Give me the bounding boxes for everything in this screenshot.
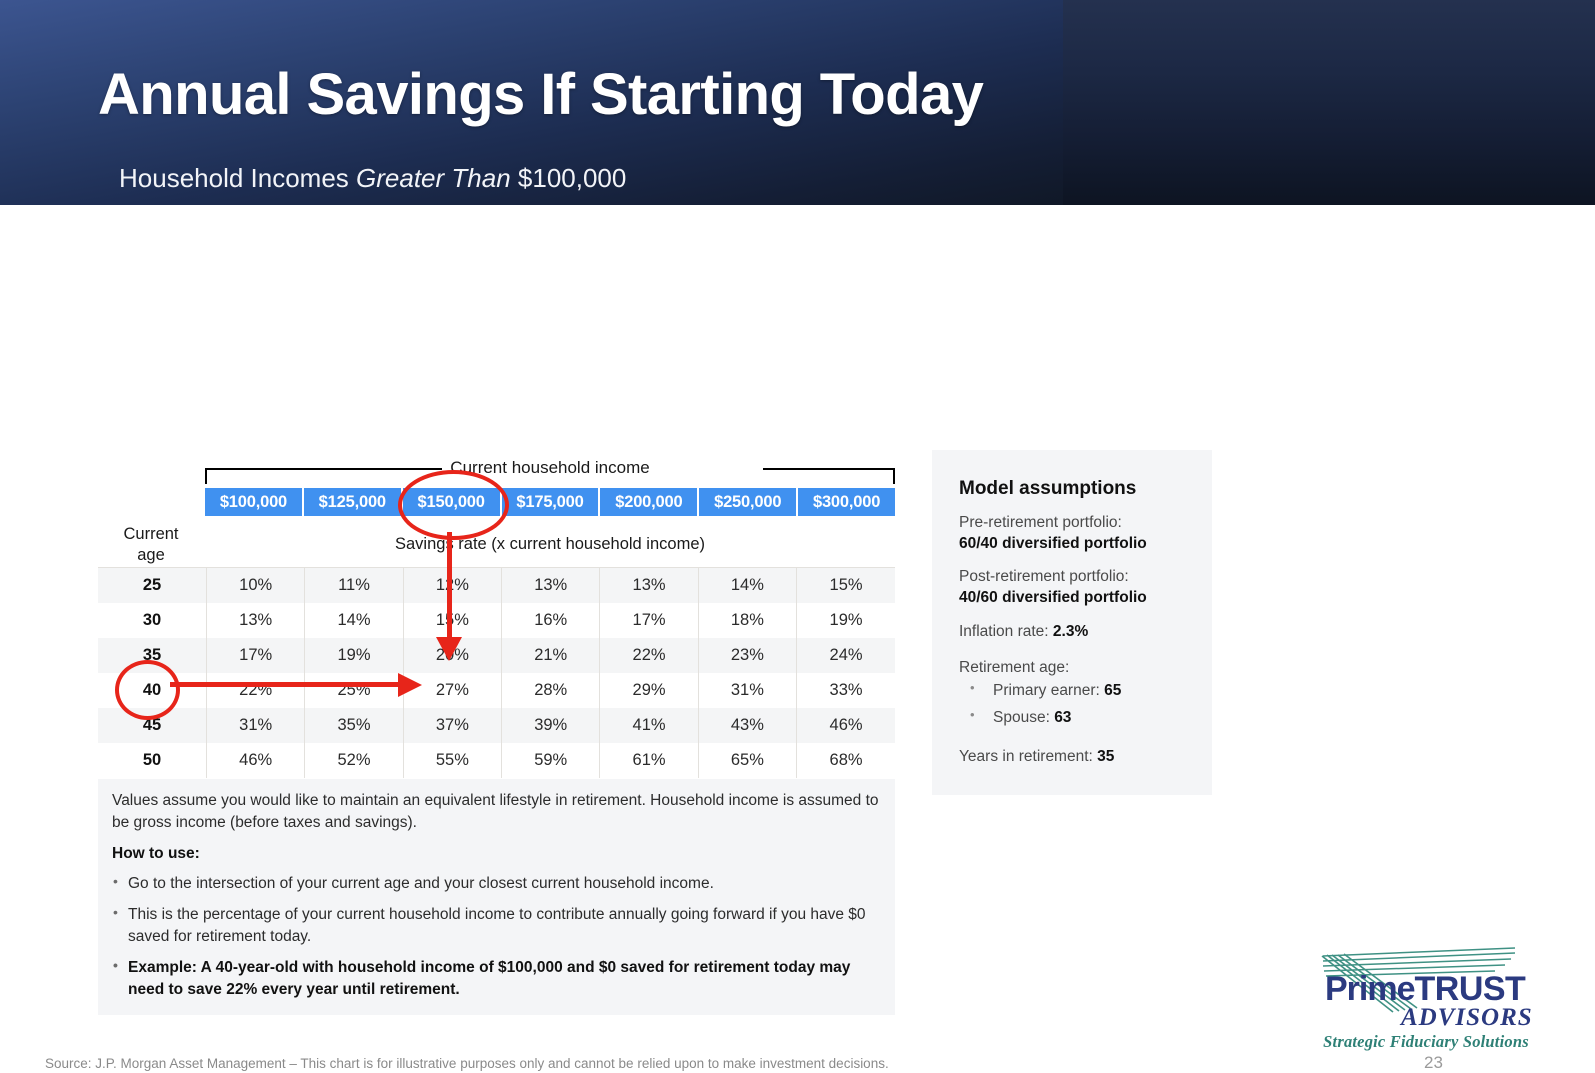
logo-word-prime: Prime (1325, 970, 1415, 1008)
subtitle-part-pre: Household Incomes (119, 163, 356, 193)
rate-cell: 65% (698, 743, 796, 778)
how-to-use-heading: How to use: (112, 845, 200, 863)
inflation-rate-value: 2.3% (1053, 623, 1088, 640)
rate-cell: 31% (207, 708, 305, 743)
post-retirement-portfolio-label: Post-retirement portfolio: (959, 567, 1195, 588)
header-right-gradient-panel (1063, 0, 1595, 205)
assumption-bullet-label: Spouse: (993, 709, 1054, 726)
rate-cell: 52% (305, 743, 403, 778)
years-in-retirement-label: Years in retirement: (959, 748, 1093, 765)
rate-cell: 61% (600, 743, 698, 778)
income-header-row: $100,000$125,000$150,000$175,000$200,000… (205, 488, 895, 516)
rate-cell: 35% (305, 708, 403, 743)
rate-cell: 33% (797, 673, 895, 708)
slide-body: Current household income $100,000$125,00… (0, 205, 1595, 891)
savings-rate-table: 2510%11%12%13%13%14%15%3013%14%15%16%17%… (98, 567, 895, 778)
table-row: 2510%11%12%13%13%14%15% (98, 568, 895, 604)
rate-cell: 13% (600, 568, 698, 604)
income-header-cell: $150,000 (403, 488, 500, 516)
rate-cell: 10% (207, 568, 305, 604)
inflation-rate-label: Inflation rate: (959, 623, 1049, 640)
rate-cell: 22% (600, 638, 698, 673)
rate-cell: 20% (403, 638, 501, 673)
inflation-rate-block: Inflation rate: 2.3% (959, 622, 1195, 643)
page-title: Annual Savings If Starting Today (98, 66, 983, 124)
rate-cell: 55% (403, 743, 501, 778)
rate-cell: 46% (797, 708, 895, 743)
pre-retirement-portfolio-value: 60/40 diversified portfolio (959, 535, 1147, 552)
rate-cell: 11% (305, 568, 403, 604)
list-item: Spouse: 63 (970, 709, 1200, 727)
row-group-label-line1: Current (98, 524, 204, 545)
age-cell: 45 (98, 708, 207, 743)
income-header-cell: $300,000 (798, 488, 895, 516)
notes-panel: Values assume you would like to maintain… (98, 779, 895, 1015)
post-retirement-portfolio-block: Post-retirement portfolio: 40/60 diversi… (959, 567, 1195, 608)
list-item: Go to the intersection of your current a… (112, 873, 890, 895)
rate-cell: 18% (698, 603, 796, 638)
income-header-cell: $200,000 (600, 488, 697, 516)
rate-cell: 59% (502, 743, 600, 778)
income-header-cell: $250,000 (699, 488, 796, 516)
income-header-cell: $125,000 (304, 488, 401, 516)
rate-cell: 19% (305, 638, 403, 673)
rate-cell: 24% (797, 638, 895, 673)
rate-cell: 41% (600, 708, 698, 743)
rate-cell: 23% (698, 638, 796, 673)
rate-cell: 13% (207, 603, 305, 638)
assumption-bullet-value: 65 (1104, 682, 1121, 699)
pre-retirement-portfolio-label: Pre-retirement portfolio: (959, 513, 1195, 534)
age-cell: 40 (98, 673, 207, 708)
rate-cell: 21% (502, 638, 600, 673)
age-cell: 35 (98, 638, 207, 673)
rate-cell: 17% (600, 603, 698, 638)
assumption-bullet-label: Primary earner: (993, 682, 1104, 699)
age-cell: 25 (98, 568, 207, 604)
pre-retirement-portfolio-block: Pre-retirement portfolio: 60/40 diversif… (959, 513, 1195, 554)
post-retirement-portfolio-value: 40/60 diversified portfolio (959, 589, 1147, 606)
list-item: Example: A 40-year-old with household in… (112, 957, 890, 1001)
table-row: 5046%52%55%59%61%65%68% (98, 743, 895, 778)
rate-cell: 14% (698, 568, 796, 604)
logo-word-trust: TRUST (1415, 970, 1526, 1008)
income-header-cell: $175,000 (502, 488, 599, 516)
rate-cell: 16% (502, 603, 600, 638)
row-group-label-line2: age (98, 545, 204, 566)
retirement-age-list: Primary earner: 65Spouse: 63 (970, 682, 1200, 736)
rate-cell: 43% (698, 708, 796, 743)
company-logo: PrimeTRUST ADVISORS Strategic Fiduciary … (1305, 940, 1545, 1045)
rate-cell: 31% (698, 673, 796, 708)
list-item: Primary earner: 65 (970, 682, 1200, 700)
rate-cell: 28% (502, 673, 600, 708)
retirement-age-label: Retirement age: (959, 658, 1195, 679)
years-in-retirement-value: 35 (1097, 748, 1114, 765)
table-row: 3517%19%20%21%22%23%24% (98, 638, 895, 673)
table-row: 4531%35%37%39%41%43%46% (98, 708, 895, 743)
table-row: 4022%25%27%28%29%31%33% (98, 673, 895, 708)
column-group-label: Current household income (205, 458, 895, 478)
rate-cell: 15% (797, 568, 895, 604)
logo-wordmark: PrimeTRUST (1325, 972, 1525, 1006)
rate-cell: 27% (403, 673, 501, 708)
rate-cell: 15% (403, 603, 501, 638)
model-assumptions-panel: Model assumptions Pre-retirement portfol… (932, 450, 1212, 795)
savings-rate-table-body: 2510%11%12%13%13%14%15%3013%14%15%16%17%… (98, 568, 895, 779)
column-group-label-text: Current household income (442, 458, 657, 477)
notes-intro-text: Values assume you would like to maintain… (112, 790, 884, 834)
rate-cell: 29% (600, 673, 698, 708)
how-to-use-list: Go to the intersection of your current a… (112, 873, 890, 1010)
page-subtitle: Household Incomes Greater Than $100,000 (119, 163, 626, 194)
rate-cell: 22% (207, 673, 305, 708)
income-header-cell: $100,000 (205, 488, 302, 516)
savings-rate-caption: Savings rate (x current household income… (205, 535, 895, 554)
rate-cell: 46% (207, 743, 305, 778)
rate-cell: 13% (502, 568, 600, 604)
subtitle-part-post: $100,000 (511, 163, 627, 193)
model-assumptions-title: Model assumptions (959, 478, 1136, 500)
table-row: 3013%14%15%16%17%18%19% (98, 603, 895, 638)
rate-cell: 68% (797, 743, 895, 778)
row-group-label: Current age (98, 524, 204, 566)
rate-cell: 39% (502, 708, 600, 743)
years-in-retirement-block: Years in retirement: 35 (959, 747, 1195, 768)
subtitle-part-emphasis: Greater Than (356, 163, 511, 193)
assumption-bullet-value: 63 (1054, 709, 1071, 726)
source-note: Source: J.P. Morgan Asset Management – T… (45, 1056, 889, 1071)
age-cell: 30 (98, 603, 207, 638)
rate-cell: 17% (207, 638, 305, 673)
rate-cell: 12% (403, 568, 501, 604)
logo-tagline-text: Strategic Fiduciary Solutions (1307, 1032, 1545, 1052)
rate-cell: 14% (305, 603, 403, 638)
slide-header: Annual Savings If Starting Today Househo… (0, 0, 1595, 205)
logo-advisors-text: ADVISORS (1401, 1004, 1533, 1032)
list-item: This is the percentage of your current h… (112, 904, 890, 948)
rate-cell: 37% (403, 708, 501, 743)
rate-cell: 25% (305, 673, 403, 708)
age-cell: 50 (98, 743, 207, 778)
page-number: 23 (1424, 1053, 1443, 1073)
rate-cell: 19% (797, 603, 895, 638)
